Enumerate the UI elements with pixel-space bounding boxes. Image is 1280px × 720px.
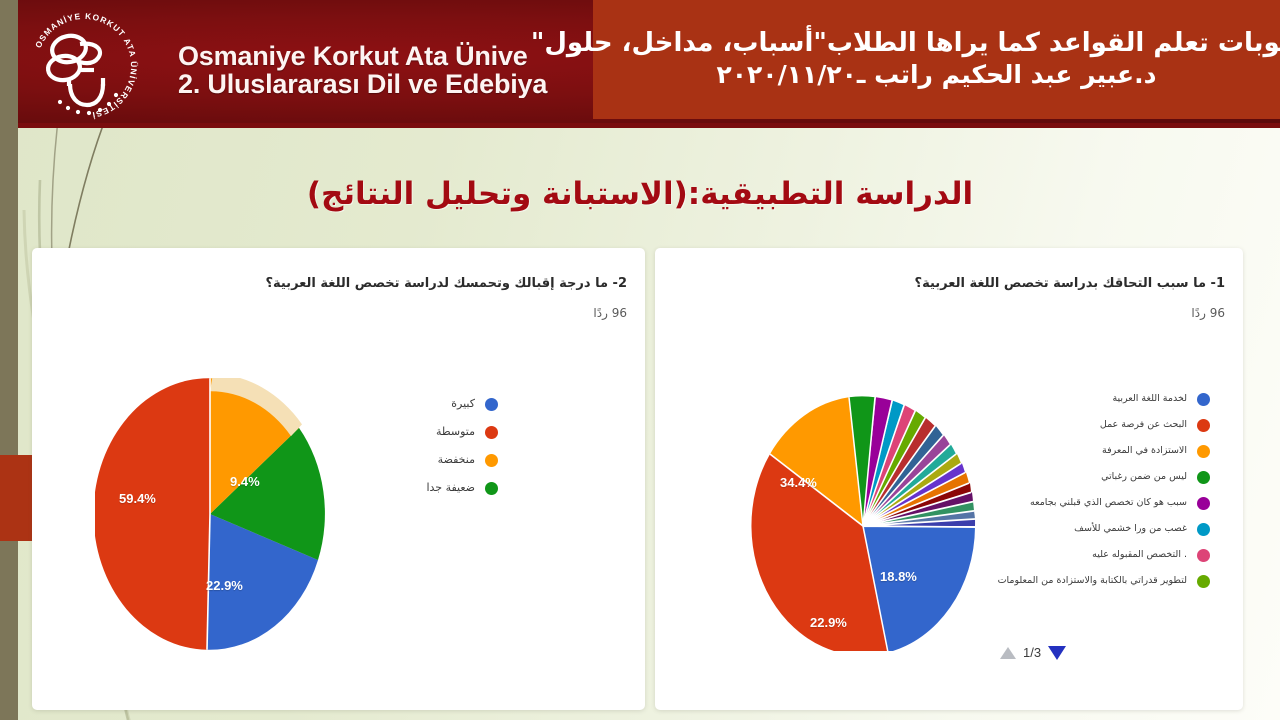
legend-swatch-icon [485, 482, 498, 495]
legend-label: لخدمة اللغة العربية [1112, 394, 1187, 405]
legend-swatch-icon [1197, 393, 1210, 406]
question-2-title: 2- ما درجة إقبالك وتحمسك لدراسة تخصص الل… [265, 276, 627, 293]
legend-question-1[interactable]: لخدمة اللغة العربية البحث عن فرصة عمل ال… [998, 393, 1210, 601]
legend-item[interactable]: لخدمة اللغة العربية [998, 393, 1210, 406]
pie-chart-question-1[interactable]: 18.8% 22.9% 34.4% [745, 383, 985, 651]
legend-item[interactable]: ليس من ضمن رغباتي [998, 471, 1210, 484]
pie-label-9-4: 9.4% [230, 474, 260, 489]
legend-question-2[interactable]: كبيرة متوسطة منخفضة ضعيفة جدا [378, 398, 498, 510]
pie-label-59-4: 59.4% [119, 491, 156, 506]
legend-swatch-icon [485, 454, 498, 467]
legend-label: كبيرة [451, 398, 475, 411]
legend-item[interactable]: . التخصص المقبوله عليه [998, 549, 1210, 562]
university-title-line2: 2. Uluslararası Dil ve Edebiya [178, 70, 618, 98]
pie-chart-question-2-svg[interactable] [95, 378, 325, 650]
legend-swatch-icon [1197, 497, 1210, 510]
legend-item[interactable]: غصب من ورا خشمي للأسف [998, 523, 1210, 536]
legend-label: سبب هو كان تخصص الذي قبلني بجامعه [1030, 498, 1187, 509]
question-2-response-count: 96 ردًا [265, 306, 627, 320]
legend-swatch-icon [1197, 549, 1210, 562]
question-2-header: 2- ما درجة إقبالك وتحمسك لدراسة تخصص الل… [265, 276, 627, 320]
legend-swatch-icon [485, 398, 498, 411]
legend-label: . التخصص المقبوله عليه [1092, 550, 1187, 561]
question-1-header: 1- ما سبب التحاقك بدراسة تخصص اللغة العر… [915, 276, 1225, 320]
legend-swatch-icon [1197, 575, 1210, 588]
legend-page-indicator: 1/3 [1023, 645, 1041, 660]
question-1-title: 1- ما سبب التحاقك بدراسة تخصص اللغة العر… [915, 276, 1225, 293]
legend-swatch-icon [485, 426, 498, 439]
pie-chart-question-1-svg[interactable] [745, 383, 985, 651]
legend-swatch-icon [1197, 471, 1210, 484]
legend-label: ليس من ضمن رغباتي [1101, 472, 1187, 483]
pie-label-34-4: 34.4% [780, 475, 817, 490]
legend-swatch-icon [1197, 523, 1210, 536]
legend-label: الاستزادة في المعرفة [1102, 446, 1187, 457]
legend-label: منخفضة [438, 454, 475, 467]
legend-item[interactable]: متوسطة [378, 426, 498, 439]
left-accent-stripe [0, 0, 18, 720]
legend-swatch-icon [1197, 445, 1210, 458]
pie-chart-question-2[interactable]: 59.4% 22.9% 9.4% [95, 378, 325, 650]
legend-label: متوسطة [436, 426, 475, 439]
presentation-author-date: د.عبير عبد الحكيم راتب ـ٢٠٢٠/١١/٢٠ [717, 60, 1157, 91]
legend-item[interactable]: منخفضة [378, 454, 498, 467]
triangle-up-icon[interactable] [1000, 647, 1016, 659]
pie-label-22-9: 22.9% [206, 578, 243, 593]
legend-label: البحث عن فرصة عمل [1100, 420, 1187, 431]
legend-item[interactable]: ضعيفة جدا [378, 482, 498, 495]
legend-item[interactable]: كبيرة [378, 398, 498, 411]
legend-item[interactable]: الاستزادة في المعرفة [998, 445, 1210, 458]
question-1-response-count: 96 ردًا [915, 306, 1225, 320]
legend-label: ضعيفة جدا [426, 482, 475, 495]
university-title-line1: Osmaniye Korkut Ata Ünive [178, 42, 528, 71]
legend-label: غصب من ورا خشمي للأسف [1074, 524, 1187, 535]
legend-item[interactable]: لتطوير قدراتي بالكتابة والاستزادة من الم… [998, 575, 1210, 588]
presentation-title-line1: " صعوبات تعلم القواعد كما يراها الطلاب"أ… [531, 28, 1280, 60]
pie-slice-mutawassita [95, 378, 210, 649]
presentation-title-box: " صعوبات تعلم القواعد كما يراها الطلاب"أ… [593, 0, 1280, 119]
slide-heading: الدراسة التطبيقية:(الاستبانة وتحليل النت… [0, 176, 1280, 212]
legend-swatch-icon [1197, 419, 1210, 432]
legend-pagination[interactable]: 1/3 [1000, 645, 1066, 660]
legend-item[interactable]: البحث عن فرصة عمل [998, 419, 1210, 432]
pie-label-18-8: 18.8% [880, 569, 917, 584]
university-logo-icon: OSMANİYE KORKUT ATA ÜNİVERSİTESİ [24, 6, 144, 126]
triangle-down-icon[interactable] [1048, 646, 1066, 660]
pie-label-22-9: 22.9% [810, 615, 847, 630]
legend-item[interactable]: سبب هو كان تخصص الذي قبلني بجامعه [998, 497, 1210, 510]
legend-label: لتطوير قدراتي بالكتابة والاستزادة من الم… [998, 576, 1187, 587]
presentation-slide: OSMANİYE KORKUT ATA ÜNİVERSİTESİ Osmaniy… [0, 0, 1280, 720]
